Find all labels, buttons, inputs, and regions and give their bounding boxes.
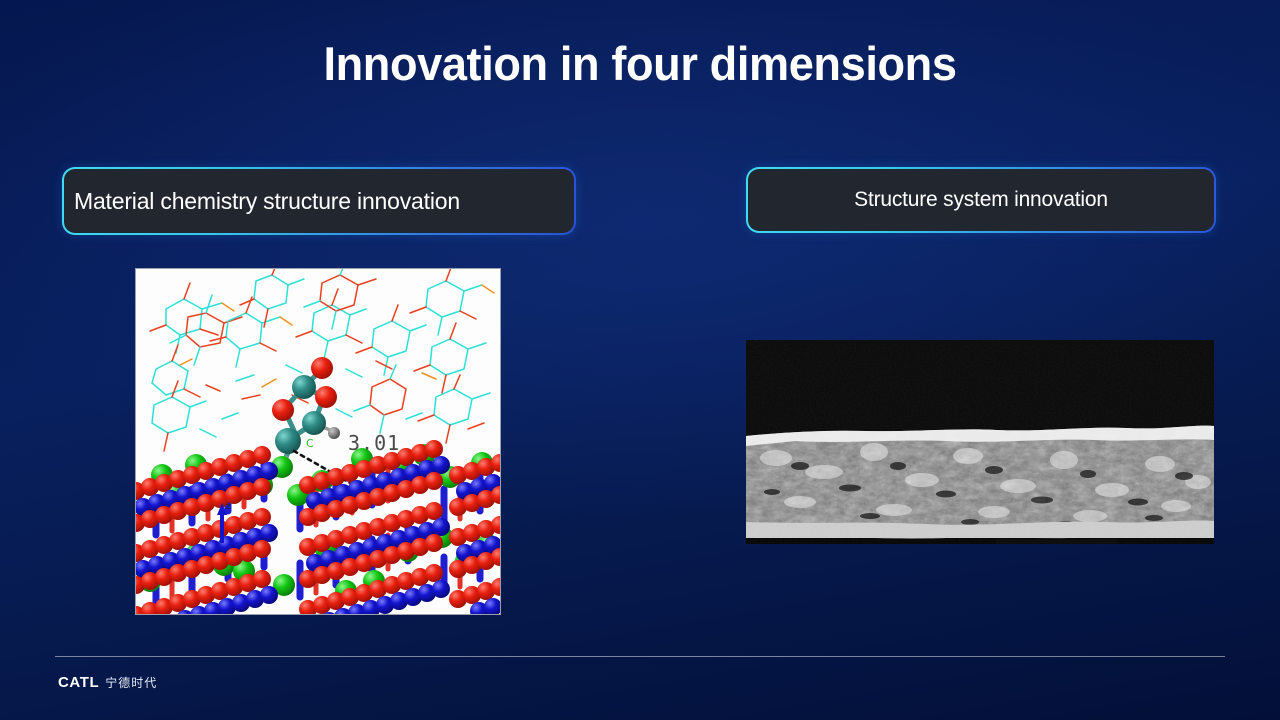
figure-molecular-dynamics-crystal-structure: C 3.01 O [135,268,501,615]
brand-logo-text-cn: 宁德时代 [105,674,157,691]
panel-label-structure-system[interactable]: Structure system innovation [746,167,1216,233]
slide-canvas: Innovation in four dimensions Material c… [0,0,1280,720]
panel-label-inner: Structure system innovation [748,169,1214,231]
panel-label-text: Structure system innovation [854,188,1108,212]
molecular-structure-svg: C 3.01 O [136,269,501,615]
atom-label-carbon: C [306,437,314,450]
panel-label-text: Material chemistry structure innovation [74,188,460,215]
brand-logo: CATL 宁德时代 [58,674,157,691]
figure-sem-electrode-cross-section [746,340,1214,544]
page-title: Innovation in four dimensions [26,38,1255,90]
brand-logo-text: CATL [58,674,99,691]
panel-label-inner: Material chemistry structure innovation [64,169,574,233]
panel-label-material-chemistry[interactable]: Material chemistry structure innovation [62,167,576,235]
footer-divider [55,656,1225,657]
sem-micrograph-svg [746,340,1214,544]
svg-text:z: z [226,502,231,512]
